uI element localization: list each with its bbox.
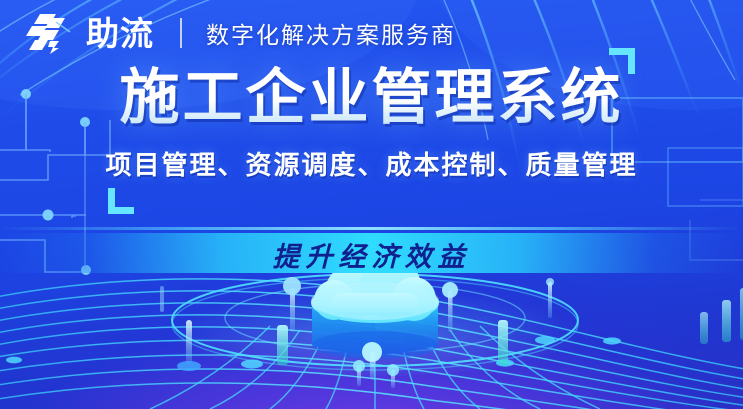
promo-banner: 助流 数字化解决方案服务商 施工企业管理系统 项目管理、资源调度、成本控制、质量… [0, 0, 743, 409]
corner-bracket-bottom-left-icon [108, 188, 134, 214]
logo-wordmark: 助流 [86, 17, 154, 50]
sub-title: 项目管理、资源调度、成本控制、质量管理 [0, 145, 743, 182]
brand-header: 助流 数字化解决方案服务商 [26, 8, 456, 58]
zhuliu-logo-icon [26, 12, 72, 54]
main-title: 施工企业管理系统 [0, 66, 743, 131]
tagline-text: 提升经济效益 [0, 235, 743, 274]
header-tagline: 数字化解决方案服务商 [206, 16, 456, 50]
header-divider [180, 18, 182, 48]
title-block: 施工企业管理系统 项目管理、资源调度、成本控制、质量管理 [0, 66, 743, 182]
tagline-bar: 提升经济效益 [0, 225, 743, 273]
tagline-top-line [0, 227, 743, 230]
